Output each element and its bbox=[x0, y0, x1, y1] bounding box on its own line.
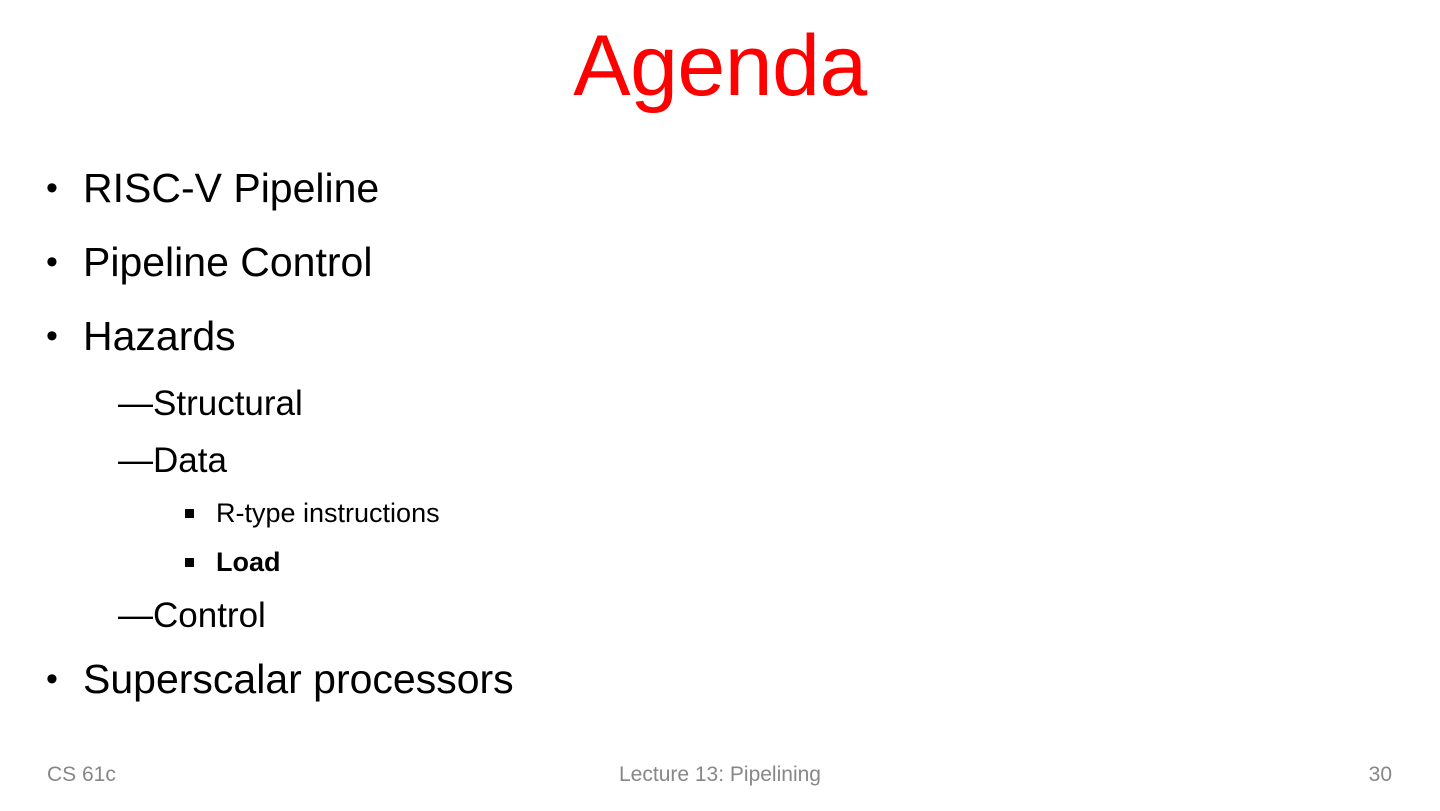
list-item: • Pipeline Control bbox=[44, 242, 1384, 283]
list-item-label: Hazards bbox=[83, 316, 236, 357]
square-bullet-icon bbox=[185, 549, 216, 576]
list-item-label: Control bbox=[153, 598, 266, 633]
outline-body: • RISC-V Pipeline • Pipeline Control • H… bbox=[44, 168, 1384, 733]
page-title: Agenda bbox=[0, 18, 1440, 114]
list-item: Load bbox=[44, 549, 1384, 576]
round-bullet-icon: • bbox=[46, 168, 83, 208]
list-item: — Data bbox=[44, 443, 1384, 478]
list-item-label: Data bbox=[153, 443, 227, 478]
dash-bullet-icon: — bbox=[118, 386, 153, 421]
footer-lecture-label: Lecture 13: Pipelining bbox=[0, 758, 1440, 792]
list-item: • Hazards bbox=[44, 316, 1384, 357]
dash-bullet-icon: — bbox=[118, 598, 153, 633]
round-bullet-icon: • bbox=[46, 242, 83, 282]
round-bullet-icon: • bbox=[46, 659, 83, 699]
list-item-label: Superscalar processors bbox=[83, 659, 514, 700]
list-item-label: RISC-V Pipeline bbox=[83, 168, 379, 209]
list-item: — Control bbox=[44, 598, 1384, 633]
dash-bullet-icon: — bbox=[118, 443, 153, 478]
list-item-label: Load bbox=[216, 549, 281, 576]
list-item-label: R-type instructions bbox=[216, 500, 440, 527]
footer-slide-number: 30 bbox=[1369, 758, 1392, 792]
slide-footer: CS 61c Lecture 13: Pipelining 30 bbox=[0, 758, 1440, 792]
list-item: — Structural bbox=[44, 386, 1384, 421]
list-item: R-type instructions bbox=[44, 500, 1384, 527]
round-bullet-icon: • bbox=[46, 316, 83, 356]
square-bullet-icon bbox=[185, 500, 216, 527]
list-item-label: Pipeline Control bbox=[83, 242, 372, 283]
list-item: • RISC-V Pipeline bbox=[44, 168, 1384, 209]
list-item: • Superscalar processors bbox=[44, 659, 1384, 700]
list-item-label: Structural bbox=[153, 386, 303, 421]
